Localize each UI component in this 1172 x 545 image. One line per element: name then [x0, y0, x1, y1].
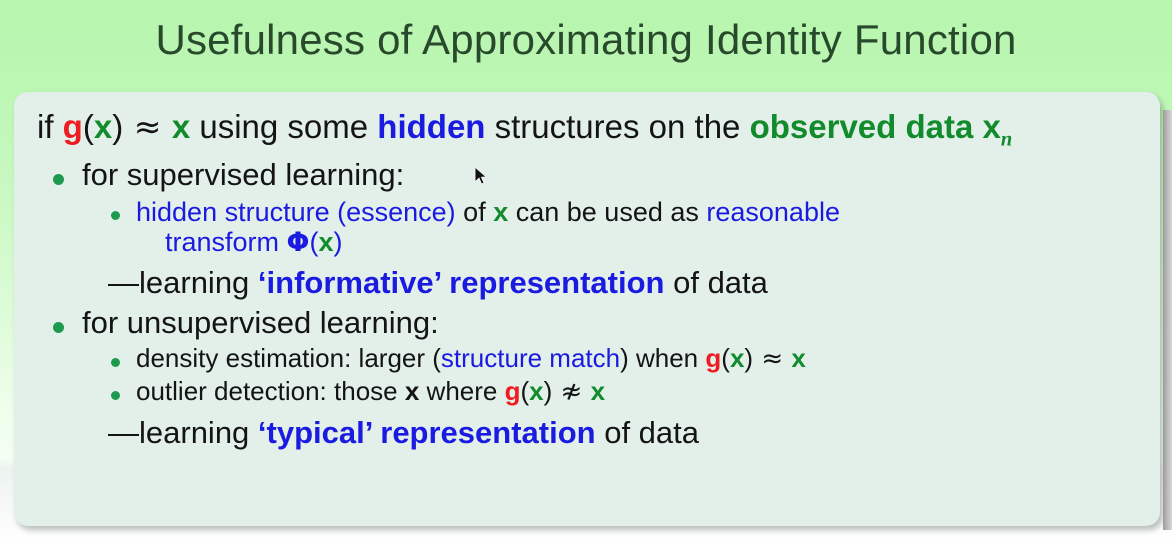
lead-x-symbol-2: x	[172, 108, 190, 145]
sub-hidden-structure-text: hidden structure (essence)	[136, 197, 456, 227]
lead-if-text: if	[37, 108, 63, 145]
dash-learning-text: —learning	[108, 265, 258, 300]
bullet-unsupervised-label: for unsupervised learning:	[82, 305, 439, 340]
sub-of-text: of	[456, 197, 494, 227]
lead-x-variable: x	[983, 108, 1001, 145]
sub-reasonable-text: reasonable	[706, 197, 840, 227]
dash-informative-emphasis: ‘informative’ representation	[258, 265, 665, 300]
dash-typical-emphasis: ‘typical’ representation	[258, 415, 596, 450]
lead-open-paren: (	[83, 108, 94, 145]
density-paren-close: )	[744, 343, 753, 373]
bullet-dot-icon	[111, 211, 120, 220]
density-g-symbol: g	[705, 343, 721, 373]
density-approx-symbol: ≈	[753, 344, 791, 374]
scrollbar[interactable]	[1163, 110, 1172, 530]
outlier-x-black: x	[405, 376, 419, 406]
density-x-symbol-2: x	[791, 343, 805, 373]
bullet-dot-icon	[53, 174, 64, 185]
outlier-x-symbol-2: x	[591, 376, 605, 406]
bullet-supervised-learning: for supervised learning:	[82, 159, 1144, 191]
lead-observed-data-keyword: observed data	[750, 108, 983, 145]
sub-can-be-used-text: can be used as	[508, 197, 706, 227]
outlier-g-symbol: g	[505, 376, 521, 406]
lead-using-some-text: using some	[190, 108, 377, 145]
sub-bullet-transform-line: transform Φ(x)	[165, 228, 1144, 257]
lead-approx-symbol: ≈	[123, 107, 172, 146]
density-x-symbol-1: x	[730, 343, 744, 373]
page-title: Usefulness of Approximating Identity Fun…	[155, 19, 1016, 61]
title-bar: Usefulness of Approximating Identity Fun…	[0, 0, 1172, 84]
sub-x-symbol: x	[493, 197, 508, 227]
outlier-where-text: where	[419, 376, 504, 406]
bullet-supervised-label: for supervised learning:	[82, 157, 404, 192]
sub-transform-text: transform	[165, 227, 287, 257]
density-when-text: when	[629, 343, 706, 373]
lead-structures-text: structures on the	[485, 108, 749, 145]
density-estimation-text: density estimation: larger	[136, 343, 432, 373]
outlier-detection-text: outlier detection: those	[136, 376, 405, 406]
content-panel: if g(x) ≈ x using some hidden structures…	[14, 92, 1160, 526]
lead-hidden-keyword: hidden	[377, 108, 485, 145]
sub-bullet-hidden-structure: hidden structure (essence) of x can be u…	[136, 198, 1144, 226]
slide-canvas: Usefulness of Approximating Identity Fun…	[0, 0, 1172, 545]
dash-of-data-text-2: of data	[596, 415, 699, 450]
lead-statement: if g(x) ≈ x using some hidden structures…	[37, 110, 1144, 151]
density-paren-open: (	[721, 343, 730, 373]
transform-close-paren: )	[334, 227, 343, 257]
structure-match-text: structure match	[441, 343, 620, 373]
outlier-not-approx-symbol: ≉	[552, 377, 590, 407]
lead-g-symbol: g	[63, 108, 83, 145]
dash-informative-representation: —learning ‘informative’ representation o…	[108, 267, 1144, 299]
density-close-paren: )	[620, 343, 629, 373]
sub-bullet-density-estimation: density estimation: larger (structure ma…	[136, 345, 1144, 373]
dash-learning-text-2: —learning	[108, 415, 258, 450]
outlier-paren-close: )	[544, 376, 553, 406]
lead-close-paren: )	[112, 108, 123, 145]
outlier-paren-open: (	[520, 376, 529, 406]
bullet-dot-icon	[53, 322, 64, 333]
bullet-unsupervised-learning: for unsupervised learning:	[82, 307, 1144, 339]
lead-subscript-n: n	[1001, 129, 1012, 151]
lead-x-symbol-1: x	[94, 108, 112, 145]
bullet-dot-icon	[111, 358, 120, 367]
density-open-paren: (	[432, 343, 441, 373]
transform-x-symbol: x	[318, 227, 333, 257]
bullet-dot-icon	[111, 391, 120, 400]
dash-of-data-text: of data	[664, 265, 767, 300]
dash-typical-representation: —learning ‘typical’ representation of da…	[108, 417, 1144, 449]
outlier-x-symbol-1: x	[529, 376, 543, 406]
phi-symbol: Φ	[287, 227, 310, 258]
sub-bullet-outlier-detection: outlier detection: those x where g(x) ≉ …	[136, 378, 1144, 406]
